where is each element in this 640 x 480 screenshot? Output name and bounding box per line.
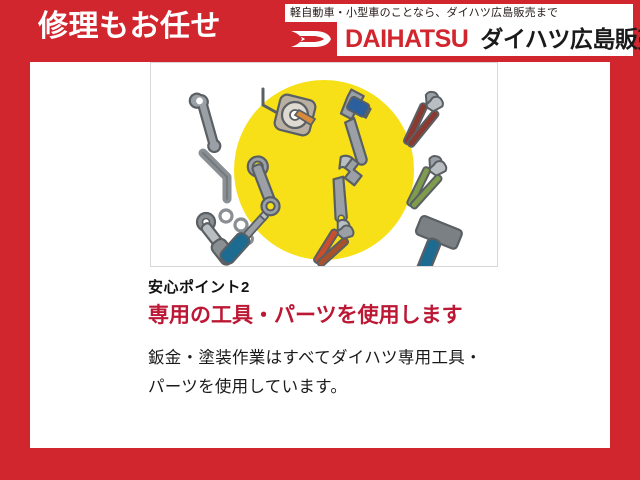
brand-jp-name: ダイハツ広島販売 [480,22,640,56]
content-card: 安心ポイント2 専用の工具・パーツを使用します 鈑金・塗装作業はすべてダイハツ専… [30,62,610,448]
illustration-frame [150,62,498,267]
hex-key-icon [203,153,227,199]
lineman-pliers-icon [398,89,448,151]
body-text: 鈑金・塗装作業はすべてダイハツ専用工具・パーツを使用しています。 [148,344,496,402]
brand-logo-box: 軽自動車・小型車のことなら、ダイハツ広島販売まで DAIHATSU ダイハツ広島… [285,4,633,56]
text-block: 安心ポイント2 専用の工具・パーツを使用します 鈑金・塗装作業はすべてダイハツ専… [148,277,528,402]
headline: 専用の工具・パーツを使用します [148,303,496,328]
combination-wrench-icon [172,90,239,155]
header-bar: 修理もお任せ 軽自動車・小型車のことなら、ダイハツ広島販売まで DAIHATSU… [0,0,640,62]
mallet-icon [401,215,464,266]
brand-word: DAIHATSU [345,22,468,56]
screwdriver-icon [218,209,271,266]
mechanic-tools-illustration [151,63,497,266]
slide-root: 修理もお任せ 軽自動車・小型車のことなら、ダイハツ広島販売まで DAIHATSU… [0,0,640,480]
page-title: 修理もお任せ [38,8,221,46]
daihatsu-d-mark-icon [285,22,337,56]
point-label: 安心ポイント2 [148,277,528,299]
brand-logo-row: DAIHATSU ダイハツ広島販売 [285,22,633,56]
brand-tagline: 軽自動車・小型車のことなら、ダイハツ広島販売まで [290,6,558,20]
